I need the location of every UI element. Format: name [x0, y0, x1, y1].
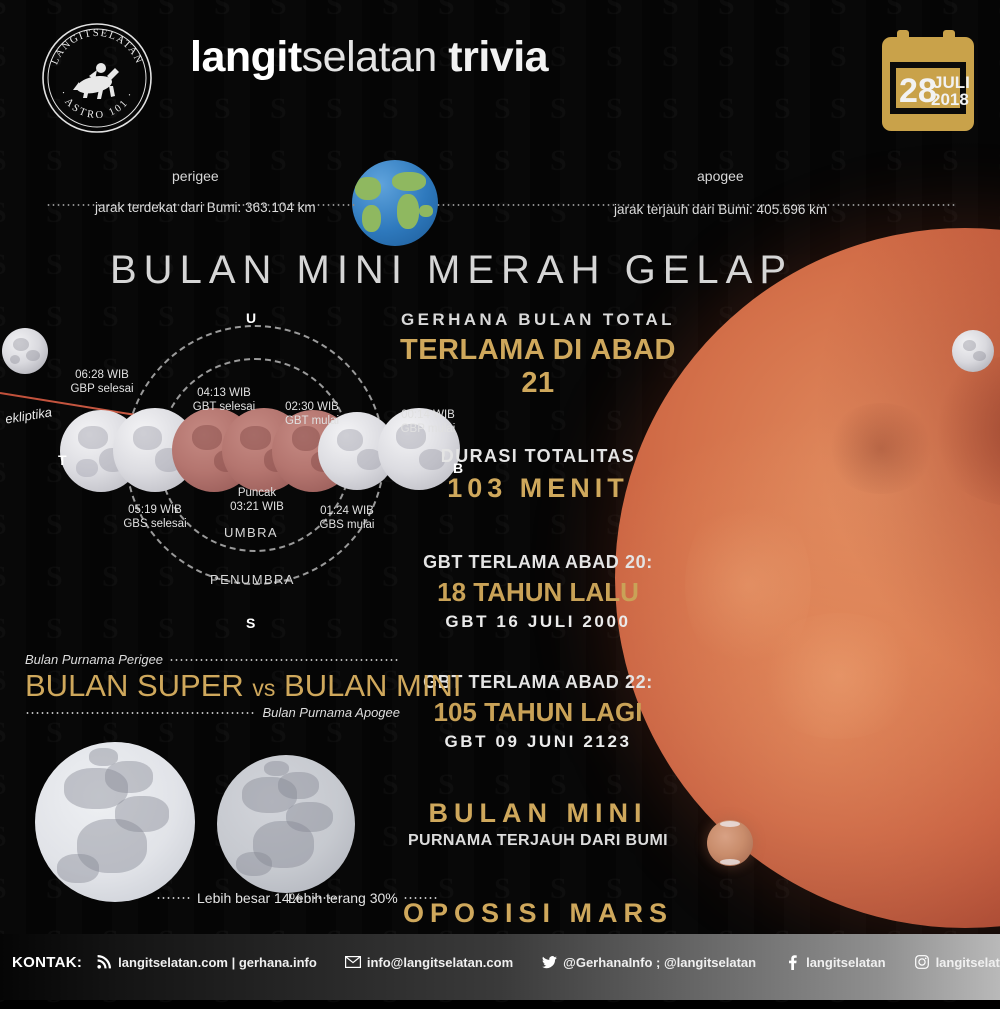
instagram-icon — [914, 954, 930, 970]
stat-eclipse-record: GERHANA BULAN TOTAL TERLAMA DI ABAD 21 — [392, 310, 684, 400]
caption-size: Lebih besar 14% — [197, 890, 302, 906]
stat-century-20: GBT TERLAMA ABAD 20: 18 TAHUN LALU GBT 1… — [392, 552, 684, 632]
title-trivia: trivia — [448, 33, 548, 81]
phase-4-time: 01:24 WIB — [320, 505, 374, 517]
phase-0-event: GBP selesai — [70, 383, 133, 395]
kontak-label: KONTAK: — [0, 954, 82, 971]
footer-instagram-text: langitselatanmedia — [936, 955, 1000, 970]
phase-2-time: 04:13 WIB — [197, 387, 251, 399]
footer-item-website[interactable]: langitselatan.com | gerhana.info — [82, 954, 331, 970]
calendar-year: 2018 — [931, 90, 969, 109]
compare-headline-vs: vs — [252, 675, 275, 701]
c20-date: GBT 16 JULI 2000 — [392, 612, 684, 632]
apogee-moon-icon — [952, 330, 994, 372]
c20-label: GBT TERLAMA ABAD 20: — [392, 552, 684, 573]
facebook-icon — [784, 954, 800, 970]
rss-icon — [96, 954, 112, 970]
minimoon-sub: PURNAMA TERJAUH DARI BUMI — [392, 832, 684, 850]
caption-brightness-group: Lebih terang 30% — [288, 890, 439, 906]
mars-planet-icon — [707, 820, 753, 866]
dashed-rule-top — [169, 659, 400, 661]
langitselatan-logo[interactable]: LANGITSELATAN · ASTRO 101 · — [25, 20, 170, 137]
apogee-value: jarak terjauh dari Bumi: 405.696 km — [614, 202, 827, 217]
moon-size-comparison: Lebih besar 14% Lebih terang 30% — [20, 742, 420, 927]
footer-email-text: info@langitselatan.com — [367, 955, 513, 970]
stat-duration: DURASI TOTALITAS 103 MENIT — [392, 446, 684, 504]
phase-4-event: GBS mulai — [320, 519, 375, 531]
peak-label: Puncak — [238, 487, 276, 499]
page-title: langitselatan trivia — [190, 33, 548, 82]
caption-brightness: Lebih terang 30% — [288, 890, 398, 906]
ecliptic-label: ekliptika — [4, 404, 53, 426]
footer-item-facebook[interactable]: langitselatan — [770, 954, 899, 970]
duration-value: 103 MENIT — [392, 473, 684, 504]
eclipse-headline: TERLAMA DI ABAD 21 — [392, 334, 684, 400]
c20-value: 18 TAHUN LALU — [392, 577, 684, 608]
footer-item-instagram[interactable]: langitselatanmedia — [900, 954, 1000, 970]
perigee-value: jarak terdekat dari Bumi: 363.104 km — [95, 200, 316, 215]
supermoon-circle — [35, 742, 195, 902]
svg-text:LANGITSELATAN: LANGITSELATAN — [49, 28, 144, 66]
c22-date: GBT 09 JUNI 2123 — [392, 732, 684, 752]
footer-facebook-text: langitselatan — [806, 955, 885, 970]
penumbra-label: PENUMBRA — [210, 572, 295, 587]
stat-minimoon: BULAN MINI PURNAMA TERJAUH DARI BUMI — [392, 798, 684, 850]
eclipse-stats-column: GERHANA BULAN TOTAL TERLAMA DI ABAD 21 D… — [392, 310, 684, 968]
marker-t: T — [58, 452, 67, 468]
phase-0-time: 06:28 WIB — [75, 369, 129, 381]
phase-3-time: 02:30 WIB — [285, 401, 339, 413]
calendar-icon: 28 JULI 2018 — [880, 28, 976, 134]
footer-item-twitter[interactable]: @GerhanaInfo ; @langitselatan — [527, 954, 770, 970]
page-header: LANGITSELATAN · ASTRO 101 · langitselata… — [0, 0, 1000, 152]
compare-headline-a: BULAN SUPER — [25, 668, 244, 703]
title-brand-bold: langit — [190, 33, 302, 81]
minimoon-title: BULAN MINI — [392, 798, 684, 829]
apogee-fullmoon-label: Bulan Purnama Apogee — [262, 705, 400, 720]
apogee-label: apogee — [697, 168, 744, 184]
footer-item-email[interactable]: info@langitselatan.com — [331, 954, 527, 970]
perigee-label: perigee — [172, 168, 219, 184]
phase-3-event: GBT mulai — [285, 415, 339, 427]
perigee-fullmoon-label: Bulan Purnama Perigee — [25, 652, 163, 667]
twitter-icon — [541, 954, 557, 970]
phase-1-time: 05:19 WIB — [128, 504, 182, 516]
supermoon-vs-minimoon-heading: Bulan Purnama Perigee BULAN SUPER vs BUL… — [25, 652, 400, 720]
eclipse-kicker: GERHANA BULAN TOTAL — [392, 310, 684, 330]
phase-1-event: GBS selesai — [123, 518, 186, 530]
marker-s: S — [246, 615, 255, 631]
marker-u: U — [246, 310, 256, 326]
duration-label: DURASI TOTALITAS — [392, 446, 684, 467]
svg-text:· ASTRO 101 ·: · ASTRO 101 · — [57, 89, 137, 121]
envelope-icon — [345, 954, 361, 970]
compare-headline-b: BULAN MINI — [284, 668, 461, 703]
dashed-rule-bottom — [25, 712, 256, 714]
footer-website-text: langitselatan.com | gerhana.info — [118, 955, 317, 970]
minimoon-circle — [217, 755, 355, 893]
main-headline: BULAN MINI MERAH GELAP — [110, 248, 793, 293]
umbra-label: UMBRA — [224, 525, 278, 540]
footer-twitter-text: @GerhanaInfo ; @langitselatan — [563, 955, 756, 970]
title-brand-light: selatan — [302, 33, 437, 81]
peak-time: 03:21 WIB — [230, 501, 284, 513]
phase-2-event: GBT selesai — [193, 401, 255, 413]
footer-contact-bar: KONTAK: langitselatan.com | gerhana.info… — [0, 934, 1000, 1000]
